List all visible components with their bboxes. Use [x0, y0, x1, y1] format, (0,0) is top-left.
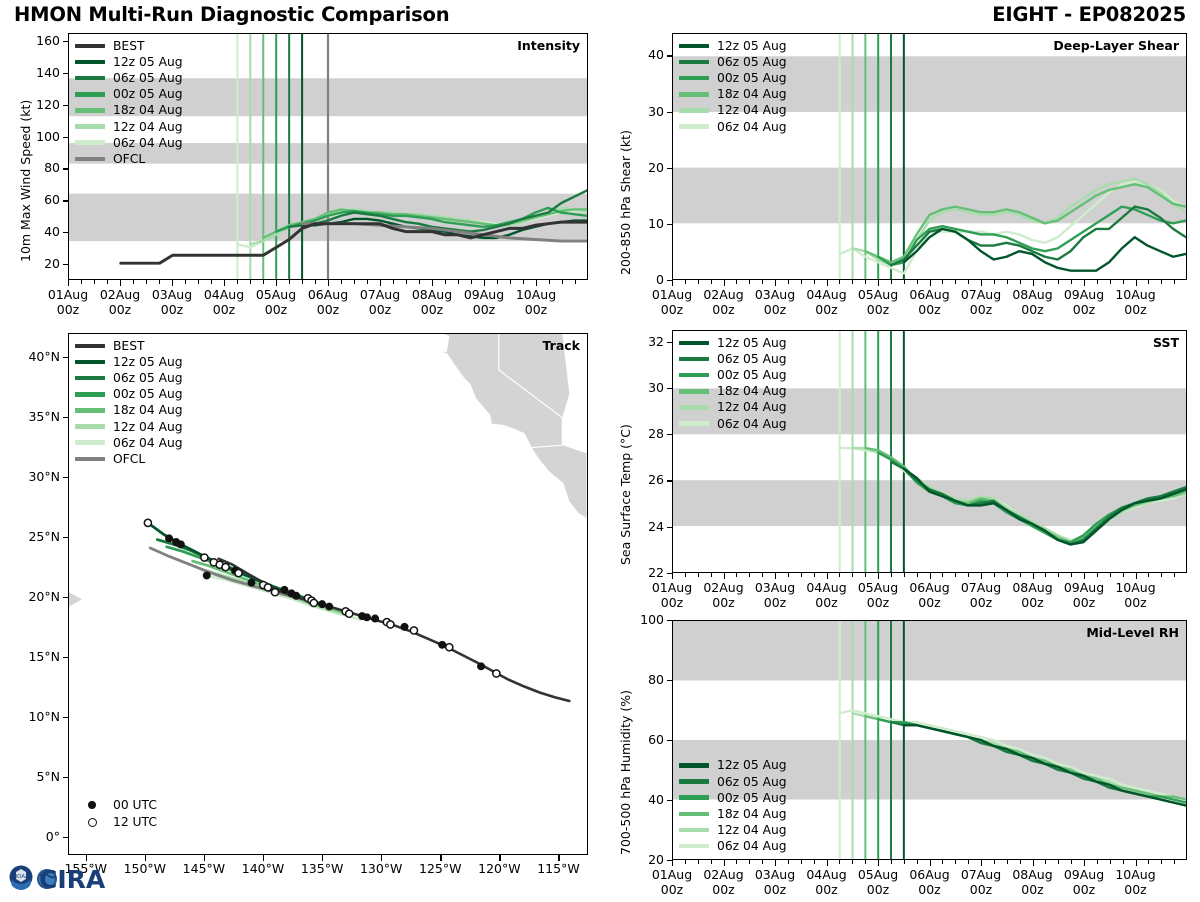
legend-label: 06z 05 Aug — [113, 71, 183, 85]
legend-swatch — [679, 405, 709, 409]
x-minor-tick — [814, 573, 815, 577]
track-y-tick-label: 0° — [8, 829, 60, 844]
x-tick-day: 01Aug — [48, 287, 88, 302]
y-tick-mark — [63, 200, 68, 201]
legend-item[interactable]: 12z 05 Aug — [679, 335, 787, 351]
legend-label: 12z 04 Aug — [717, 400, 787, 414]
x-minor-tick — [698, 860, 699, 864]
y-tick-label: 100 — [620, 612, 664, 627]
track-marker-00utc — [280, 586, 288, 594]
x-tick-mark — [484, 280, 485, 286]
x-minor-tick — [198, 280, 199, 284]
y-tick-label: 32 — [620, 334, 664, 349]
x-minor-tick — [968, 573, 969, 577]
legend-item[interactable]: 12z 04 Aug — [75, 118, 183, 134]
legend-label: 06z 04 Aug — [113, 436, 183, 450]
x-tick-day: 04Aug — [806, 580, 846, 595]
x-minor-tick — [367, 280, 368, 284]
x-tick-hour: 00z — [1073, 595, 1095, 610]
x-minor-tick — [497, 280, 498, 284]
x-tick-hour: 00z — [918, 595, 940, 610]
y-tick-mark — [667, 168, 672, 169]
x-minor-tick — [736, 860, 737, 864]
x-minor-tick — [685, 573, 686, 577]
x-minor-tick — [814, 860, 815, 864]
x-tick-mark — [981, 280, 982, 286]
x-minor-tick — [955, 280, 956, 284]
track-marker-00utc — [477, 662, 485, 670]
track-x-tick-label: 150°W — [113, 862, 177, 877]
y-tick-mark — [667, 480, 672, 481]
legend-label: 12z 04 Aug — [717, 823, 787, 837]
x-minor-tick — [1045, 860, 1046, 864]
x-tick-hour: 00z — [421, 302, 443, 317]
x-minor-tick — [1123, 573, 1124, 577]
legend-label: 06z 05 Aug — [717, 55, 787, 69]
x-tick-mark — [68, 280, 69, 286]
track-x-tick-label: 145°W — [172, 862, 236, 877]
x-tick-mark — [1136, 280, 1137, 286]
x-tick-day: 02Aug — [100, 287, 140, 302]
x-tick-day: 02Aug — [703, 867, 743, 882]
x-tick-label: 09Aug00z — [454, 288, 514, 318]
legend-item[interactable]: 12z 04 Aug — [679, 399, 787, 415]
x-tick-label: 01Aug00z — [38, 288, 98, 318]
x-tick-label: 07Aug00z — [350, 288, 410, 318]
legend-track: BEST12z 05 Aug06z 05 Aug00z 05 Aug18z 04… — [75, 338, 183, 467]
x-tick-mark — [878, 573, 879, 579]
legend-label: 06z 05 Aug — [717, 352, 787, 366]
x-minor-tick — [736, 280, 737, 284]
x-tick-hour: 00z — [161, 302, 183, 317]
x-tick-day: 05Aug — [858, 867, 898, 882]
x-minor-tick — [1007, 860, 1008, 864]
legend-item[interactable]: BEST — [75, 338, 183, 354]
x-minor-tick — [917, 280, 918, 284]
x-tick-hour: 00z — [317, 302, 339, 317]
legend-intensity: BEST12z 05 Aug06z 05 Aug00z 05 Aug18z 04… — [75, 38, 183, 167]
x-tick-hour: 00z — [764, 882, 786, 897]
legend-item[interactable]: OFCL — [75, 151, 183, 167]
legend-item[interactable]: 18z 04 Aug — [679, 86, 787, 102]
y-tick-mark — [63, 105, 68, 106]
x-minor-tick — [685, 860, 686, 864]
y-tick-mark — [667, 224, 672, 225]
x-minor-tick — [891, 860, 892, 864]
x-minor-tick — [917, 860, 918, 864]
x-minor-tick — [968, 280, 969, 284]
x-minor-tick — [1174, 573, 1175, 577]
track-marker-00utc — [325, 603, 333, 611]
x-tick-mark — [1084, 280, 1085, 286]
legend-item[interactable]: 12z 04 Aug — [679, 102, 787, 118]
legend-item[interactable]: 06z 05 Aug — [679, 351, 787, 367]
legend-item[interactable]: 18z 04 Aug — [679, 383, 787, 399]
marker-legend-label: 12 UTC — [113, 815, 157, 829]
x-minor-tick — [1174, 860, 1175, 864]
x-tick-day: 08Aug — [412, 287, 452, 302]
x-tick-mark — [981, 573, 982, 579]
x-tick-day: 10Aug — [1115, 287, 1155, 302]
x-minor-tick — [1097, 280, 1098, 284]
legend-item[interactable]: 00z 05 Aug — [75, 86, 183, 102]
figure-title-left: HMON Multi-Run Diagnostic Comparison — [14, 3, 449, 26]
track-marker-00utc — [247, 579, 255, 587]
x-minor-tick — [81, 280, 82, 284]
intensity-y-axis-label: 10m Max Wind Speed (kt) — [18, 100, 33, 262]
legend-label: 00z 05 Aug — [113, 87, 183, 101]
track-y-tick-label: 35°N — [8, 409, 60, 424]
x-tick-mark — [724, 280, 725, 286]
panel-track: Track BEST12z 05 Aug06z 05 Aug00z 05 Aug… — [68, 333, 588, 855]
x-minor-tick — [749, 280, 750, 284]
track-line — [219, 559, 570, 701]
track-marker-00utc — [177, 540, 185, 548]
x-tick-day: 06Aug — [909, 287, 949, 302]
legend-item[interactable]: 00z 05 Aug — [679, 367, 787, 383]
y-tick-label: 22 — [620, 565, 664, 580]
x-minor-tick — [955, 860, 956, 864]
legend-label: 12z 04 Aug — [113, 420, 183, 434]
x-minor-tick — [685, 280, 686, 284]
x-tick-hour: 00z — [764, 302, 786, 317]
y-tick-mark — [667, 620, 672, 621]
x-tick-day: 03Aug — [755, 287, 795, 302]
legend-swatch — [679, 779, 709, 783]
x-tick-hour: 00z — [1021, 302, 1043, 317]
x-minor-tick — [736, 573, 737, 577]
x-minor-tick — [801, 860, 802, 864]
legend-item[interactable]: 00z 05 Aug — [679, 790, 787, 806]
legend-item[interactable]: 06z 04 Aug — [679, 118, 787, 134]
panel-sst: SST 12z 05 Aug06z 05 Aug00z 05 Aug18z 04… — [672, 330, 1187, 573]
x-minor-tick — [994, 280, 995, 284]
legend-item[interactable]: 12z 05 Aug — [75, 354, 183, 370]
legend-item[interactable]: OFCL — [75, 451, 183, 467]
track-x-tick-label: 140°W — [231, 862, 295, 877]
x-minor-tick — [1148, 280, 1149, 284]
track-marker-12utc — [346, 610, 353, 617]
x-minor-tick — [289, 280, 290, 284]
track-y-tick-mark — [63, 417, 68, 418]
x-minor-tick — [994, 573, 995, 577]
legend-item[interactable]: 06z 04 Aug — [679, 838, 787, 854]
legend-item[interactable]: 12z 04 Aug — [75, 418, 183, 434]
x-minor-tick — [865, 280, 866, 284]
x-tick-day: 05Aug — [858, 287, 898, 302]
legend-label: 12z 04 Aug — [717, 103, 787, 117]
track-marker-12utc — [201, 554, 208, 561]
x-minor-tick — [1058, 573, 1059, 577]
legend-swatch — [75, 92, 105, 96]
legend-item[interactable]: 00z 05 Aug — [75, 386, 183, 402]
svg-text:NOAA: NOAA — [13, 874, 29, 880]
legend-label: BEST — [113, 39, 145, 53]
x-tick-mark — [827, 860, 828, 866]
legend-swatch — [679, 795, 709, 799]
x-tick-mark — [328, 280, 329, 286]
legend-swatch — [75, 424, 105, 428]
x-minor-tick — [1097, 573, 1098, 577]
x-tick-mark — [1033, 280, 1034, 286]
x-minor-tick — [955, 573, 956, 577]
legend-swatch — [679, 341, 709, 345]
x-tick-hour: 00z — [57, 302, 79, 317]
legend-swatch — [75, 44, 105, 48]
y-tick-mark — [63, 168, 68, 169]
track-x-tick-label: 115°W — [526, 862, 590, 877]
legend-item[interactable]: 12z 05 Aug — [75, 54, 183, 70]
y-tick-mark — [63, 264, 68, 265]
x-minor-tick — [942, 280, 943, 284]
x-minor-tick — [891, 280, 892, 284]
x-tick-label: 03Aug00z — [142, 288, 202, 318]
legend-swatch — [75, 108, 105, 112]
track-marker-00utc — [203, 571, 211, 579]
x-tick-mark — [878, 280, 879, 286]
x-tick-hour: 00z — [369, 302, 391, 317]
legend-label: 00z 05 Aug — [113, 387, 183, 401]
x-minor-tick — [788, 860, 789, 864]
track-y-tick-mark — [63, 657, 68, 658]
x-minor-tick — [1123, 860, 1124, 864]
legend-label: 06z 05 Aug — [717, 775, 787, 789]
x-tick-day: 01Aug — [652, 580, 692, 595]
x-tick-hour: 00z — [1073, 302, 1095, 317]
legend-item[interactable]: 18z 04 Aug — [75, 102, 183, 118]
marker-dot-icon — [77, 801, 107, 809]
x-minor-tick — [302, 280, 303, 284]
x-minor-tick — [315, 280, 316, 284]
legend-item[interactable]: 06z 04 Aug — [679, 415, 787, 431]
legend-label: OFCL — [113, 452, 145, 466]
x-tick-day: 05Aug — [256, 287, 296, 302]
legend-item[interactable]: BEST — [75, 38, 183, 54]
y-tick-mark — [667, 55, 672, 56]
x-minor-tick — [211, 280, 212, 284]
x-minor-tick — [510, 280, 511, 284]
x-tick-hour: 00z — [1021, 595, 1043, 610]
rh-y-axis-label: 700-500 hPa Humidity (%) — [618, 690, 633, 855]
x-minor-tick — [801, 573, 802, 577]
panel-label-intensity: Intensity — [517, 38, 580, 53]
x-minor-tick — [1161, 573, 1162, 577]
y-tick-label: 30 — [620, 380, 664, 395]
panel-shear: Deep-Layer Shear 12z 05 Aug06z 05 Aug00z… — [672, 33, 1187, 280]
legend-item[interactable]: 18z 04 Aug — [679, 806, 787, 822]
track-y-tick-mark — [63, 597, 68, 598]
track-y-tick-label: 15°N — [8, 649, 60, 664]
x-tick-day: 09Aug — [1064, 287, 1104, 302]
hawaii-sliver — [69, 592, 82, 606]
x-minor-tick — [1110, 573, 1111, 577]
track-y-tick-mark — [63, 717, 68, 718]
x-minor-tick — [250, 280, 251, 284]
legend-item[interactable]: 06z 05 Aug — [679, 54, 787, 70]
x-tick-day: 10Aug — [1115, 580, 1155, 595]
legend-swatch — [75, 457, 105, 461]
x-tick-hour: 00z — [213, 302, 235, 317]
track-marker-00utc — [318, 600, 326, 608]
panel-rh: Mid-Level RH 12z 05 Aug06z 05 Aug00z 05 … — [672, 620, 1187, 860]
x-tick-day: 03Aug — [152, 287, 192, 302]
track-marker-00utc — [292, 592, 300, 600]
legend-label: 18z 04 Aug — [717, 384, 787, 398]
x-tick-hour: 00z — [918, 882, 940, 897]
x-tick-hour: 00z — [815, 302, 837, 317]
x-minor-tick — [762, 860, 763, 864]
x-tick-mark — [1136, 573, 1137, 579]
x-minor-tick — [458, 280, 459, 284]
x-tick-mark — [775, 280, 776, 286]
x-tick-mark — [536, 280, 537, 286]
legend-swatch — [75, 392, 105, 396]
x-tick-mark — [981, 860, 982, 866]
legend-swatch — [679, 373, 709, 377]
noaa-emblem-icon: NOAA — [10, 866, 33, 891]
x-tick-hour: 00z — [265, 302, 287, 317]
y-tick-label: 40 — [620, 47, 664, 62]
legend-item[interactable]: 06z 05 Aug — [75, 370, 183, 386]
x-minor-tick — [1161, 280, 1162, 284]
x-tick-label: 02Aug00z — [90, 288, 150, 318]
x-minor-tick — [263, 280, 264, 284]
legend-swatch — [679, 828, 709, 832]
sst-y-axis-label: Sea Surface Temp (°C) — [618, 424, 633, 565]
x-tick-day: 09Aug — [1064, 867, 1104, 882]
x-tick-hour: 00z — [661, 302, 683, 317]
track-x-tick-label: 125°W — [408, 862, 472, 877]
legend-label: 18z 04 Aug — [113, 403, 183, 417]
legend-label: 12z 05 Aug — [717, 758, 787, 772]
x-tick-hour: 00z — [109, 302, 131, 317]
x-minor-tick — [917, 573, 918, 577]
legend-item[interactable]: 12z 04 Aug — [679, 822, 787, 838]
x-minor-tick — [942, 573, 943, 577]
x-tick-day: 07Aug — [961, 287, 1001, 302]
legend-swatch — [75, 408, 105, 412]
legend-item[interactable]: 00z 05 Aug — [679, 70, 787, 86]
x-tick-label: 04Aug00z — [194, 288, 254, 318]
x-minor-tick — [1071, 860, 1072, 864]
track-marker-00utc — [363, 613, 371, 621]
legend-label: 12z 04 Aug — [113, 120, 183, 134]
x-tick-mark — [1084, 860, 1085, 866]
x-tick-day: 07Aug — [961, 580, 1001, 595]
x-tick-day: 04Aug — [806, 287, 846, 302]
marker-dot-icon — [77, 818, 107, 827]
x-tick-day: 10Aug — [1115, 867, 1155, 882]
cira-wordmark: CIRA — [37, 865, 106, 894]
x-tick-day: 06Aug — [308, 287, 348, 302]
legend-item[interactable]: 06z 04 Aug — [75, 135, 183, 151]
x-tick-day: 08Aug — [1012, 867, 1052, 882]
track-marker-00utc — [165, 534, 173, 542]
legend-swatch — [75, 157, 105, 161]
x-minor-tick — [1058, 280, 1059, 284]
x-tick-day: 05Aug — [858, 580, 898, 595]
track-marker-12utc — [387, 621, 394, 628]
y-tick-mark — [63, 232, 68, 233]
x-minor-tick — [865, 573, 866, 577]
x-minor-tick — [839, 280, 840, 284]
x-tick-hour: 00z — [867, 882, 889, 897]
panel-intensity: Intensity BEST12z 05 Aug06z 05 Aug00z 05… — [68, 33, 588, 280]
shear-y-axis-label: 200-850 hPa Shear (kt) — [618, 130, 633, 275]
y-tick-mark — [667, 800, 672, 801]
x-minor-tick — [1097, 860, 1098, 864]
track-y-tick-mark — [63, 777, 68, 778]
legend-item[interactable]: 06z 05 Aug — [75, 70, 183, 86]
x-tick-hour: 00z — [712, 595, 734, 610]
x-tick-mark — [380, 280, 381, 286]
track-marker-12utc — [410, 627, 417, 634]
x-tick-hour: 00z — [712, 302, 734, 317]
x-tick-day: 06Aug — [909, 580, 949, 595]
legend-swatch — [75, 140, 105, 144]
x-tick-hour: 00z — [867, 595, 889, 610]
track-marker-12utc — [446, 644, 453, 651]
legend-item[interactable]: 12z 05 Aug — [679, 757, 787, 773]
x-minor-tick — [1020, 280, 1021, 284]
x-minor-tick — [575, 280, 576, 284]
x-tick-day: 04Aug — [806, 867, 846, 882]
panel-label-sst: SST — [1153, 335, 1179, 350]
legend-shear: 12z 05 Aug06z 05 Aug00z 05 Aug18z 04 Aug… — [679, 38, 787, 135]
legend-swatch — [679, 357, 709, 361]
x-minor-tick — [94, 280, 95, 284]
x-minor-tick — [994, 860, 995, 864]
y-tick-mark — [667, 527, 672, 528]
x-tick-hour: 00z — [1073, 882, 1095, 897]
x-tick-mark — [878, 860, 879, 866]
x-minor-tick — [711, 573, 712, 577]
legend-item[interactable]: 06z 04 Aug — [75, 435, 183, 451]
x-tick-mark — [1033, 860, 1034, 866]
x-minor-tick — [107, 280, 108, 284]
x-minor-tick — [133, 280, 134, 284]
legend-item[interactable]: 18z 04 Aug — [75, 402, 183, 418]
y-tick-mark — [667, 342, 672, 343]
track-marker-12utc — [271, 589, 278, 596]
legend-label: 00z 05 Aug — [717, 71, 787, 85]
x-minor-tick — [814, 280, 815, 284]
x-tick-hour: 00z — [970, 882, 992, 897]
legend-item[interactable]: 12z 05 Aug — [679, 38, 787, 54]
figure-root: HMON Multi-Run Diagnostic Comparison EIG… — [0, 0, 1200, 900]
x-minor-tick — [1161, 860, 1162, 864]
legend-swatch — [679, 108, 709, 112]
legend-swatch — [75, 360, 105, 364]
x-minor-tick — [1045, 280, 1046, 284]
cira-logo: NOAA CIRA — [6, 862, 118, 898]
x-minor-tick — [341, 280, 342, 284]
legend-item[interactable]: 06z 05 Aug — [679, 774, 787, 790]
x-minor-tick — [865, 860, 866, 864]
x-tick-hour: 00z — [1021, 882, 1043, 897]
track-y-tick-mark — [63, 537, 68, 538]
legend-swatch — [679, 763, 709, 767]
y-tick-mark — [667, 434, 672, 435]
x-tick-hour: 00z — [661, 882, 683, 897]
track-x-tick-label: 135°W — [290, 862, 354, 877]
x-tick-day: 09Aug — [1064, 580, 1104, 595]
x-tick-hour: 00z — [473, 302, 495, 317]
x-minor-tick — [852, 860, 853, 864]
x-minor-tick — [419, 280, 420, 284]
marker-legend-label: 00 UTC — [113, 798, 157, 812]
track-marker-12utc — [235, 569, 242, 576]
